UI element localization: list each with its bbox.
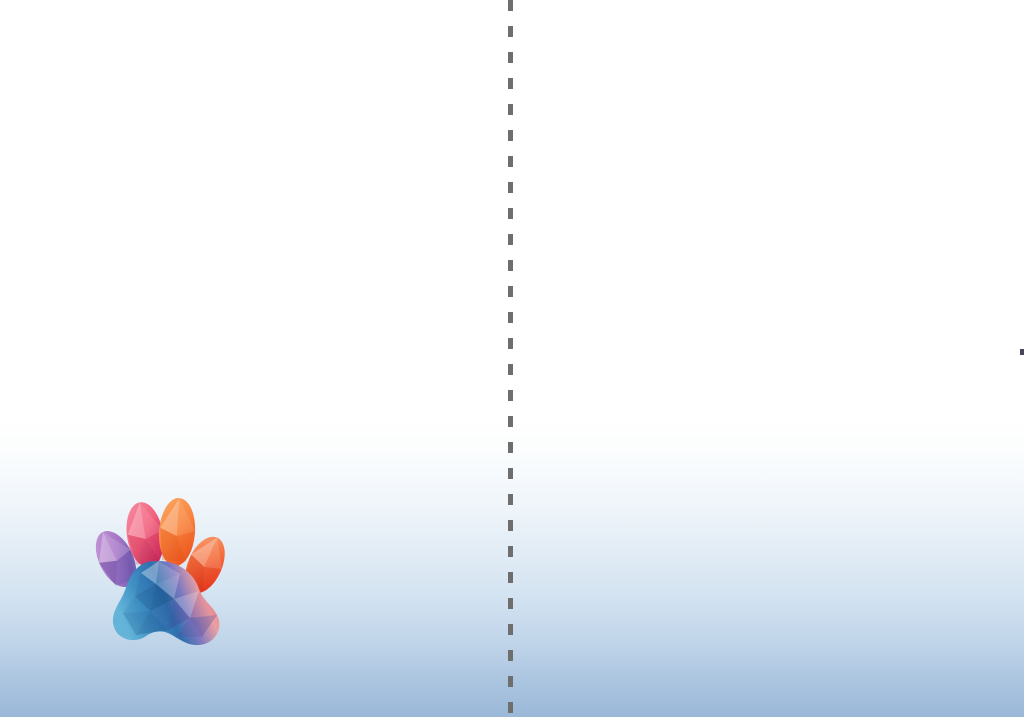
paw-print-icon bbox=[90, 487, 228, 651]
card-panel-left bbox=[0, 0, 510, 717]
registration-tick-icon bbox=[1020, 349, 1024, 355]
card-panel-right: Welcome to our furry family! We’re so ex… bbox=[514, 0, 1024, 717]
fold-perforation bbox=[508, 0, 513, 717]
greeting-card: Welcome to our furry family! We’re so ex… bbox=[0, 0, 1024, 717]
